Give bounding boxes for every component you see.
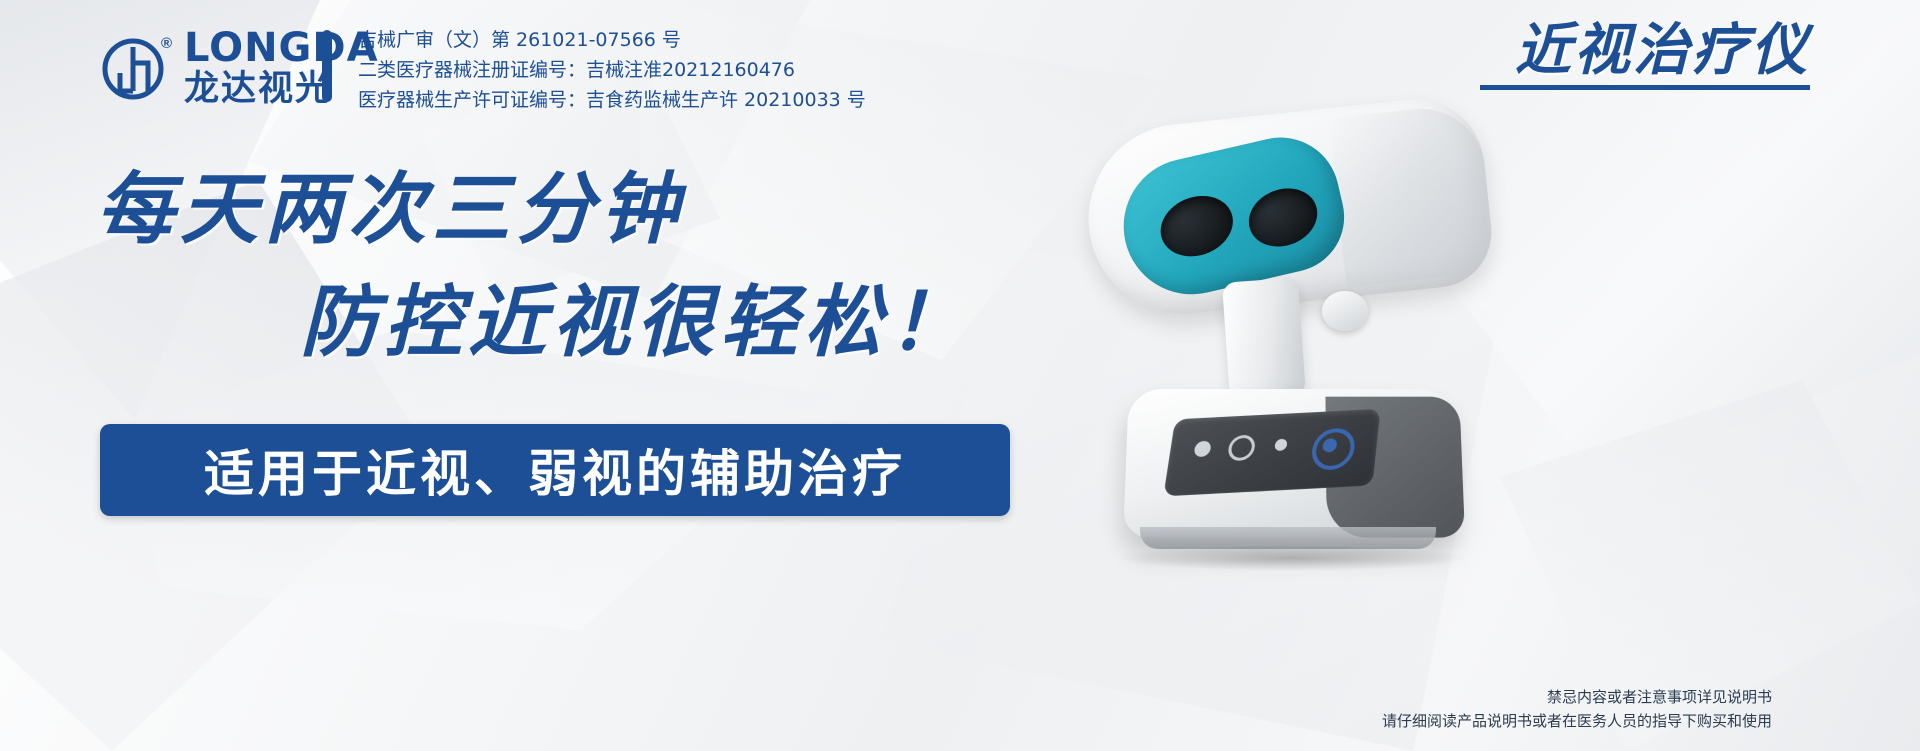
registered-mark: ® xyxy=(161,35,172,52)
vertical-divider xyxy=(322,30,332,102)
device-control-panel xyxy=(1163,409,1380,496)
device-neck xyxy=(1222,277,1306,400)
panel-indicator-icon xyxy=(1227,434,1257,461)
promo-banner: ® LONGDA 龙达视光 吉械广审（文）第 261021-07566 号 二类… xyxy=(0,0,1920,751)
device-adjust-knob xyxy=(1322,291,1368,331)
cta-banner[interactable]: 适用于近视、弱视的辅助治疗 xyxy=(100,424,1010,516)
cta-text: 适用于近视、弱视的辅助治疗 xyxy=(204,434,906,506)
disclaimer-line: 请仔细阅读产品说明书或者在医务人员的指导下购买和使用 xyxy=(1382,709,1772,733)
panel-indicator-icon xyxy=(1193,441,1211,458)
regulatory-line: 医疗器械生产许可证编号：吉食药监械生产许 20210033 号 xyxy=(358,88,866,113)
headline-line-2: 防控近视很轻松！ xyxy=(96,279,1056,366)
brand-name-en: LONGDA xyxy=(184,28,379,68)
regulatory-info: 吉械广审（文）第 261021-07566 号 二类医疗器械注册证编号：吉械注准… xyxy=(358,28,866,113)
brand-logo: ® LONGDA 龙达视光 xyxy=(100,28,379,107)
product-device-image xyxy=(1030,95,1550,565)
device-eye-right xyxy=(1240,179,1325,256)
product-title: 近视治疗仪 xyxy=(1480,22,1810,90)
device-base xyxy=(1123,389,1459,538)
headline-line-1: 每天两次三分钟 xyxy=(96,166,1056,253)
title-underline xyxy=(1480,85,1810,90)
regulatory-line: 二类医疗器械注册证编号：吉械注准20212160476 xyxy=(358,58,866,83)
product-title-text: 近视治疗仪 xyxy=(1480,22,1810,81)
device-head-shading xyxy=(1329,103,1496,288)
device-eye-left xyxy=(1152,186,1242,267)
regulatory-line: 吉械广审（文）第 261021-07566 号 xyxy=(358,28,866,53)
device-eye-cup xyxy=(1110,126,1355,308)
device-drop-shadow xyxy=(1116,545,1468,571)
panel-indicator-icon xyxy=(1274,439,1288,451)
disclaimer-line: 禁忌内容或者注意事项详见说明书 xyxy=(1382,685,1772,709)
brand-name-cn: 龙达视光 xyxy=(184,72,379,107)
longda-circle-logo-icon: ® xyxy=(100,33,170,103)
disclaimer-block: 禁忌内容或者注意事项详见说明书 请仔细阅读产品说明书或者在医务人员的指导下购买和… xyxy=(1382,685,1772,733)
headline-block: 每天两次三分钟 防控近视很轻松！ xyxy=(96,166,1056,367)
